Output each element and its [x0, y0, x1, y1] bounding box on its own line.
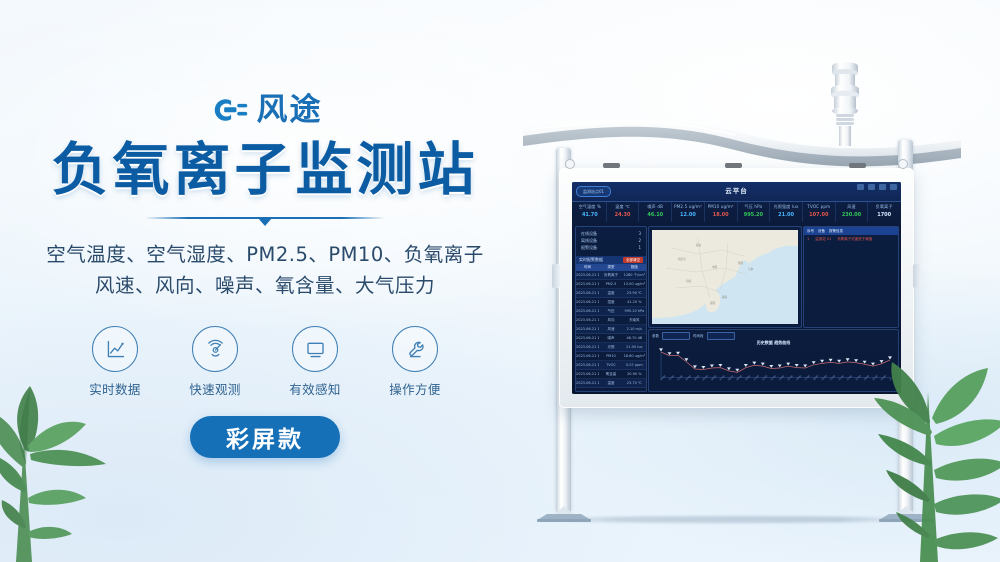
cell-time: 2023-06-21 10:51:09 [576, 316, 599, 324]
metric-value: 230.00 [836, 211, 868, 220]
feature-item-effective-sensing[interactable]: 有效感知 [284, 326, 346, 398]
table-header-bar: 实时报警数据 全部清空 [576, 256, 646, 264]
stat-value: 3 [638, 230, 641, 237]
cell-time: 2023-06-21 10:39:28 [576, 361, 599, 369]
table-row[interactable]: 2023-06-21 10:58:04温度23.90 ℃ [576, 289, 646, 298]
mount-bracket-icon [913, 264, 921, 288]
feature-item-realtime-data[interactable]: 实时数据 [84, 326, 146, 398]
subtitle-line-1: 空气温度、空气湿度、PM2.5、PM10、负氧离子 [0, 240, 530, 271]
feature-list: 实时数据 快速观测 [0, 326, 530, 398]
wrench-icon [404, 338, 427, 361]
stat-row: 在线设备 3 [581, 230, 641, 237]
cell-time: 2023-06-21 10:37:05 [576, 370, 599, 378]
cloud-platform-dashboard: 监测站点01 云平台 空气湿度 % 41.70 [572, 182, 901, 394]
svg-text:印度: 印度 [686, 279, 692, 283]
alert-column-message: 报警信息 [829, 229, 843, 234]
ground-shadow [545, 516, 915, 523]
metric-card: 噪声 dB 46.10 [639, 202, 672, 222]
cell-value: 18.60 ug/m³ [623, 352, 646, 360]
metric-card-row: 空气湿度 % 41.70 温度 ℃ 24.30 噪声 dB 46.10 PM [574, 202, 900, 222]
toolbar-icon[interactable] [868, 184, 875, 190]
table-row[interactable]: 2023-06-21 10:44:11光照21.00 lux [576, 343, 646, 352]
alarm-data-panel: 在线设备 3 离线设备 2 报警设备 1 [575, 226, 647, 392]
feature-label: 快速观测 [184, 379, 246, 398]
metric-card: PM2.5 ug/m³ 12.00 [672, 202, 705, 222]
clear-all-button[interactable]: 全部清空 [623, 257, 643, 263]
cell-value: 21.00 lux [623, 343, 646, 351]
svg-text:19:00: 19:00 [821, 374, 828, 381]
metric-card: 空气湿度 % 41.70 [574, 202, 607, 222]
ultrasonic-weather-sensor-icon [823, 58, 867, 146]
alert-column-index: 序号 [807, 229, 814, 234]
cell-time: 2023-06-21 10:53:27 [576, 307, 599, 315]
cell-type: 光照 [599, 343, 622, 351]
page-title: 负氧离子监测站 [0, 140, 530, 200]
cell-type: 湿度 [599, 298, 622, 306]
cell-time: 2023-06-21 11:00:18 [576, 280, 599, 288]
device-stats: 在线设备 3 离线设备 2 报警设备 1 [576, 227, 646, 254]
metric-label: 噪声 dB [639, 202, 671, 211]
table-row[interactable]: 2023-06-21 10:53:27气压995.10 hPa [576, 307, 646, 316]
table-row[interactable]: 2023-06-21 11:00:18PM2.513.00 ug/m³ [576, 280, 646, 289]
stat-value: 1 [638, 244, 641, 251]
badge-row: 彩屏款 [0, 416, 530, 458]
cell-value: 41.20 % [623, 298, 646, 306]
alert-device: 监测站 01 [815, 237, 831, 242]
metric-label: 负氧离子 [868, 202, 900, 211]
stat-row: 离线设备 2 [581, 237, 641, 244]
metric-value: 46.10 [639, 211, 671, 220]
table-row[interactable]: 2023-06-21 10:46:32噪声46.70 dB [576, 334, 646, 343]
metric-card: 光照强度 lux 21.00 [770, 202, 803, 222]
metric-card: 温度 ℃ 24.30 [607, 202, 640, 222]
table-title: 实时报警数据 [579, 257, 603, 263]
alert-list-panel: 序号 设备 报警信息 1 监测站 01 负氧离子浓度低于阈值 [803, 226, 899, 328]
cell-value: 1280 个/cm³ [623, 271, 646, 279]
line-chart-icon [104, 338, 127, 361]
status-badge[interactable]: 彩屏款 [190, 416, 340, 458]
cell-type: 负氧离子 [599, 271, 622, 279]
column-header: 数值 [623, 264, 646, 271]
svg-text:中国: 中国 [712, 265, 718, 269]
column-header: 类型 [599, 264, 622, 271]
svg-text:泰国: 泰国 [710, 301, 716, 305]
svg-text:02:00: 02:00 [677, 374, 684, 381]
feature-label: 操作方便 [384, 379, 446, 398]
svg-text:20:00: 20:00 [829, 374, 836, 381]
cell-type: 风速 [599, 325, 622, 333]
cell-time: 2023-06-21 10:41:50 [576, 352, 599, 360]
svg-text:越南: 越南 [722, 295, 728, 299]
cell-type: 温度 [599, 379, 622, 387]
table-column-headers: 时间 类型 数值 [576, 264, 646, 271]
station-selector[interactable]: 监测站点01 [576, 186, 611, 197]
stat-row: 报警设备 1 [581, 244, 641, 251]
map-panel[interactable]: 蒙古 中国 日本 韩国 哈萨克 印度 越南 泰国 [648, 226, 802, 328]
vent-slot-icon [725, 163, 742, 168]
svg-text:07:00: 07:00 [719, 374, 726, 381]
svg-text:05:00: 05:00 [702, 374, 709, 381]
param-select[interactable] [662, 332, 690, 340]
svg-text:12:00: 12:00 [761, 374, 768, 381]
toolbar-icon[interactable] [890, 184, 897, 190]
feature-icon-ring [92, 326, 138, 372]
table-row[interactable]: 2023-06-21 10:55:46湿度41.20 % [576, 298, 646, 307]
cell-value: 23.70 ℃ [623, 379, 646, 387]
cell-time: 2023-06-21 10:46:32 [576, 334, 599, 342]
cell-value: 东南风 [623, 316, 646, 324]
cell-type: PM2.5 [599, 280, 622, 288]
metric-label: 气压 hPa [738, 202, 770, 211]
table-row[interactable]: 2023-06-21 10:34:47温度23.70 ℃ [576, 379, 646, 388]
metric-value: 41.70 [574, 211, 606, 220]
display-enclosure-icon: 监测站点01 云平台 空气湿度 % 41.70 [559, 168, 914, 408]
cell-value: 46.70 dB [623, 334, 646, 342]
corner-bolt-icon [565, 159, 575, 169]
metric-value: 24.30 [607, 211, 639, 220]
feature-icon-ring [392, 326, 438, 372]
mount-bracket-icon [552, 264, 560, 288]
svg-text:27:00: 27:00 [889, 374, 894, 381]
alert-index: 1 [807, 237, 809, 241]
radar-sensor-icon [204, 338, 227, 361]
feature-item-fast-observation[interactable]: 快速观测 [184, 326, 246, 398]
dashboard-title: 云平台 [725, 185, 748, 195]
promo-banner: 风途 负氧离子监测站 空气温度、空气湿度、PM2.5、PM10、负氧离子 风速、… [0, 0, 1000, 562]
cell-value: 0.07 ppm [623, 361, 646, 369]
corner-bolt-icon [898, 159, 908, 169]
cell-type: 风向 [599, 316, 622, 324]
dashboard-header: 监测站点01 云平台 [572, 182, 901, 202]
svg-text:23:00: 23:00 [855, 374, 862, 381]
vent-slot-icon [603, 163, 620, 168]
cell-value: 20.90 % [623, 370, 646, 378]
cell-time: 2023-06-21 11:02:31 [576, 271, 599, 279]
cell-type: 气压 [599, 307, 622, 315]
trend-line-chart: 00:0001:0002:0003:0004:0005:0006:0007:00… [653, 346, 894, 388]
param-label: 参数 [652, 334, 659, 339]
stat-label: 报警设备 [581, 244, 597, 251]
alert-row[interactable]: 1 监测站 01 负氧离子浓度低于阈值 [804, 235, 898, 243]
monitor-screen-icon [304, 338, 327, 361]
cell-type: PM10 [599, 352, 622, 360]
cell-time: 2023-06-21 10:58:04 [576, 289, 599, 297]
metric-value: 995.20 [738, 211, 770, 220]
svg-text:16:00: 16:00 [795, 374, 802, 381]
metric-value: 21.00 [770, 211, 802, 220]
metric-value: 1700 [868, 211, 900, 220]
svg-text:21:00: 21:00 [838, 374, 845, 381]
column-header: 时间 [576, 264, 599, 271]
svg-text:14:00: 14:00 [778, 374, 785, 381]
cell-type: 噪声 [599, 334, 622, 342]
metric-card: 风速 230.00 [836, 202, 869, 222]
metric-label: 风速 [836, 202, 868, 211]
svg-text:哈萨克: 哈萨克 [678, 257, 686, 261]
svg-text:13:00: 13:00 [770, 374, 777, 381]
svg-text:26:00: 26:00 [880, 374, 887, 381]
svg-text:22:00: 22:00 [846, 374, 853, 381]
cell-type: 氧含量 [599, 370, 622, 378]
hero-text-column: 风途 负氧离子监测站 空气温度、空气湿度、PM2.5、PM10、负氧离子 风速、… [0, 88, 530, 458]
svg-text:08:00: 08:00 [728, 374, 735, 381]
svg-text:10:00: 10:00 [744, 374, 751, 381]
svg-text:25:00: 25:00 [872, 374, 879, 381]
metric-card: PM10 ug/m³ 18.00 [705, 202, 738, 222]
toolbar-icon[interactable] [857, 184, 864, 190]
svg-text:日本: 日本 [748, 267, 754, 271]
subtitle-line-2: 风速、风向、噪声、氧含量、大气压力 [0, 271, 530, 302]
feature-icon-ring [192, 326, 238, 372]
svg-text:蒙古: 蒙古 [696, 243, 702, 247]
svg-text:04:00: 04:00 [694, 374, 701, 381]
cell-type: 温度 [599, 289, 622, 297]
metric-value: 18.00 [705, 211, 737, 220]
feature-label: 实时数据 [84, 379, 146, 398]
svg-text:06:00: 06:00 [711, 374, 718, 381]
metric-label: 光照强度 lux [770, 202, 802, 211]
metric-label: PM2.5 ug/m³ [672, 202, 704, 211]
cell-time: 2023-06-21 10:34:47 [576, 379, 599, 387]
feature-item-easy-operation[interactable]: 操作方便 [384, 326, 446, 398]
table-body: 2023-06-21 11:02:31负氧离子1280 个/cm³ 2023-0… [576, 271, 646, 388]
fengtu-g-logo-icon [208, 93, 248, 127]
product-illustration: 监测站点01 云平台 空气湿度 % 41.70 [505, 40, 975, 530]
table-row[interactable]: 2023-06-21 11:02:31负氧离子1280 个/cm³ [576, 271, 646, 280]
dashboard-toolbar [857, 184, 897, 190]
cell-time: 2023-06-21 10:44:11 [576, 343, 599, 351]
metric-value: 12.00 [672, 211, 704, 220]
svg-text:17:00: 17:00 [804, 374, 811, 381]
table-row[interactable]: 2023-06-21 10:37:05氧含量20.90 % [576, 370, 646, 379]
svg-text:09:00: 09:00 [736, 374, 743, 381]
svg-text:01:00: 01:00 [668, 374, 675, 381]
cell-value: 2.10 m/s [623, 325, 646, 333]
svg-text:03:00: 03:00 [685, 374, 692, 381]
feature-label: 有效感知 [284, 379, 346, 398]
svg-text:韩国: 韩国 [738, 261, 744, 265]
cell-value: 13.00 ug/m³ [623, 280, 646, 288]
brand-name: 风途 [257, 95, 323, 126]
china-map[interactable]: 蒙古 中国 日本 韩国 哈萨克 印度 越南 泰国 [652, 230, 798, 324]
svg-text:00:00: 00:00 [660, 374, 667, 381]
table-row[interactable]: 2023-06-21 10:51:09风向东南风 [576, 316, 646, 325]
svg-text:15:00: 15:00 [787, 374, 794, 381]
caret-down-divider-icon [258, 218, 272, 226]
title-divider [145, 214, 385, 226]
display-screen: 监测站点01 云平台 空气湿度 % 41.70 [572, 182, 901, 394]
cell-value: 995.10 hPa [623, 307, 646, 315]
range-label: 时间段 [693, 334, 704, 339]
alert-column-device: 设备 [818, 229, 825, 234]
alert-message: 负氧离子浓度低于阈值 [837, 237, 872, 242]
metric-value: 107.00 [803, 211, 835, 220]
svg-text:11:00: 11:00 [753, 374, 760, 381]
subtitle-block: 空气温度、空气湿度、PM2.5、PM10、负氧离子 风速、风向、噪声、氧含量、大… [0, 240, 530, 302]
table-row[interactable]: 2023-06-21 10:41:50PM1018.60 ug/m³ [576, 352, 646, 361]
toolbar-icon[interactable] [879, 184, 886, 190]
stat-label: 离线设备 [581, 237, 597, 244]
metric-label: TVOC ppm [803, 202, 835, 211]
trend-chart-panel: 参数 时间段 历史数据 趋势曲线 00:0001:0002:0003:0004:… [648, 329, 899, 392]
brand-logo: 风途 [0, 88, 530, 132]
metric-card: 气压 hPa 995.20 [738, 202, 771, 222]
cell-value: 23.90 ℃ [623, 289, 646, 297]
metric-label: PM10 ug/m³ [705, 202, 737, 211]
svg-text:24:00: 24:00 [863, 374, 870, 381]
metric-card: 负氧离子 1700 [868, 202, 900, 222]
alert-header: 序号 设备 报警信息 [804, 227, 898, 235]
metric-label: 空气湿度 % [574, 202, 606, 211]
stat-value: 2 [638, 237, 641, 244]
metric-card: TVOC ppm 107.00 [803, 202, 836, 222]
table-row[interactable]: 2023-06-21 10:48:55风速2.10 m/s [576, 325, 646, 334]
svg-text:18:00: 18:00 [812, 374, 819, 381]
cell-time: 2023-06-21 10:55:46 [576, 298, 599, 306]
vent-slot-icon [849, 163, 866, 168]
table-row[interactable]: 2023-06-21 10:39:28TVOC0.07 ppm [576, 361, 646, 370]
range-select[interactable] [707, 332, 735, 340]
metric-label: 温度 ℃ [607, 202, 639, 211]
stat-label: 在线设备 [581, 230, 597, 237]
cell-time: 2023-06-21 10:48:55 [576, 325, 599, 333]
feature-icon-ring [292, 326, 338, 372]
cell-type: TVOC [599, 361, 622, 369]
